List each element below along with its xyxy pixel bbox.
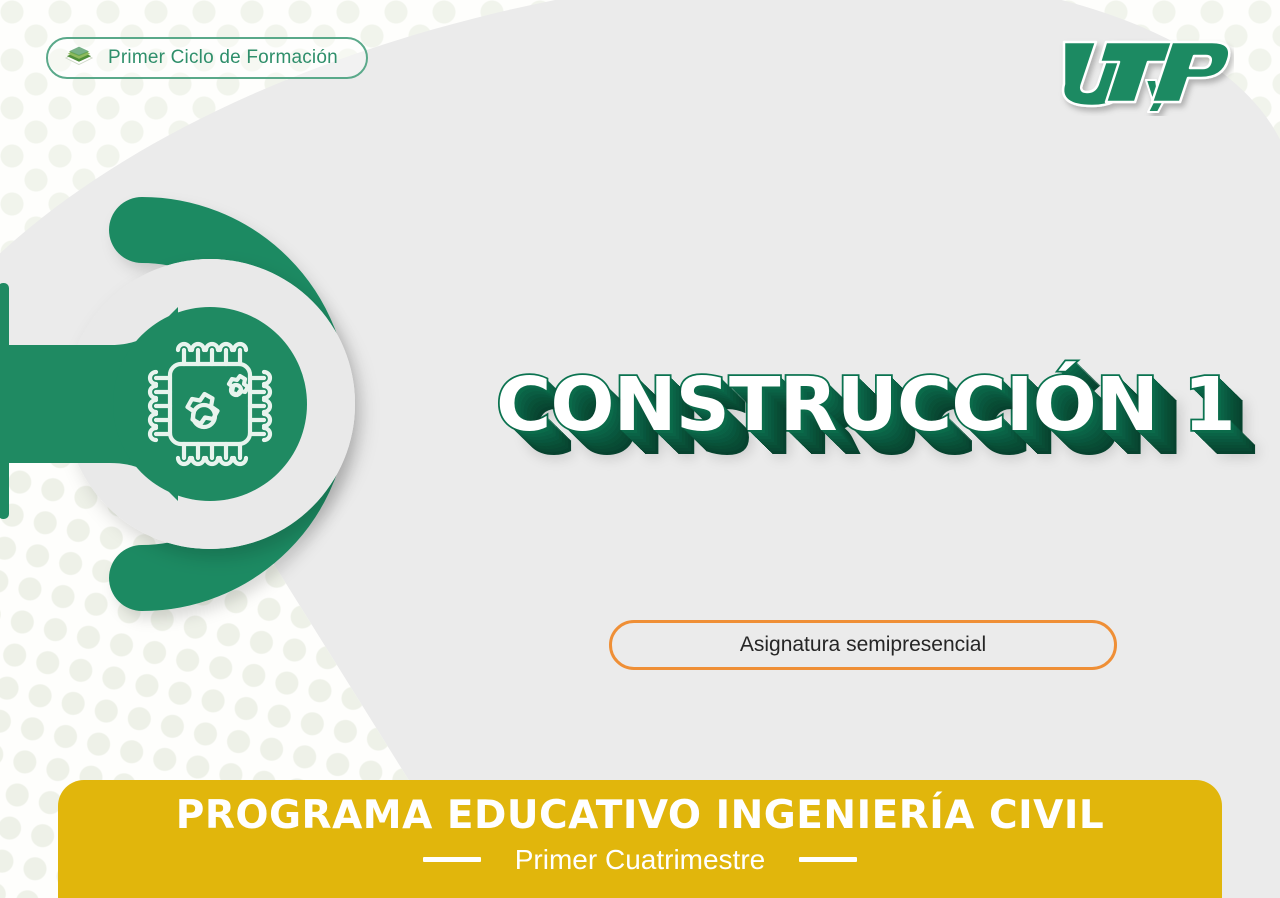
dash-right-icon [799,857,857,862]
slide-canvas: Primer Ciclo de Formación [0,0,1280,898]
utp-logo [1034,28,1234,116]
modality-label: Asignatura semipresencial [740,633,986,657]
cycle-badge-label: Primer Ciclo de Formación [108,47,338,69]
cycle-badge[interactable]: Primer Ciclo de Formación [46,37,368,79]
course-graphic [0,183,472,625]
layers-icon [64,44,94,72]
course-title: CONSTRUCCIÓN 1 [496,362,1251,448]
term-label: Primer Cuatrimestre [515,844,765,876]
modality-badge[interactable]: Asignatura semipresencial [609,620,1117,670]
program-title: PROGRAMA EDUCATIVO INGENIERÍA CIVIL [176,795,1104,838]
term-row: Primer Cuatrimestre [423,844,857,876]
dash-left-icon [423,857,481,862]
program-banner: PROGRAMA EDUCATIVO INGENIERÍA CIVIL Prim… [58,780,1222,898]
course-title-block: CONSTRUCCIÓN 1 [496,362,1236,486]
